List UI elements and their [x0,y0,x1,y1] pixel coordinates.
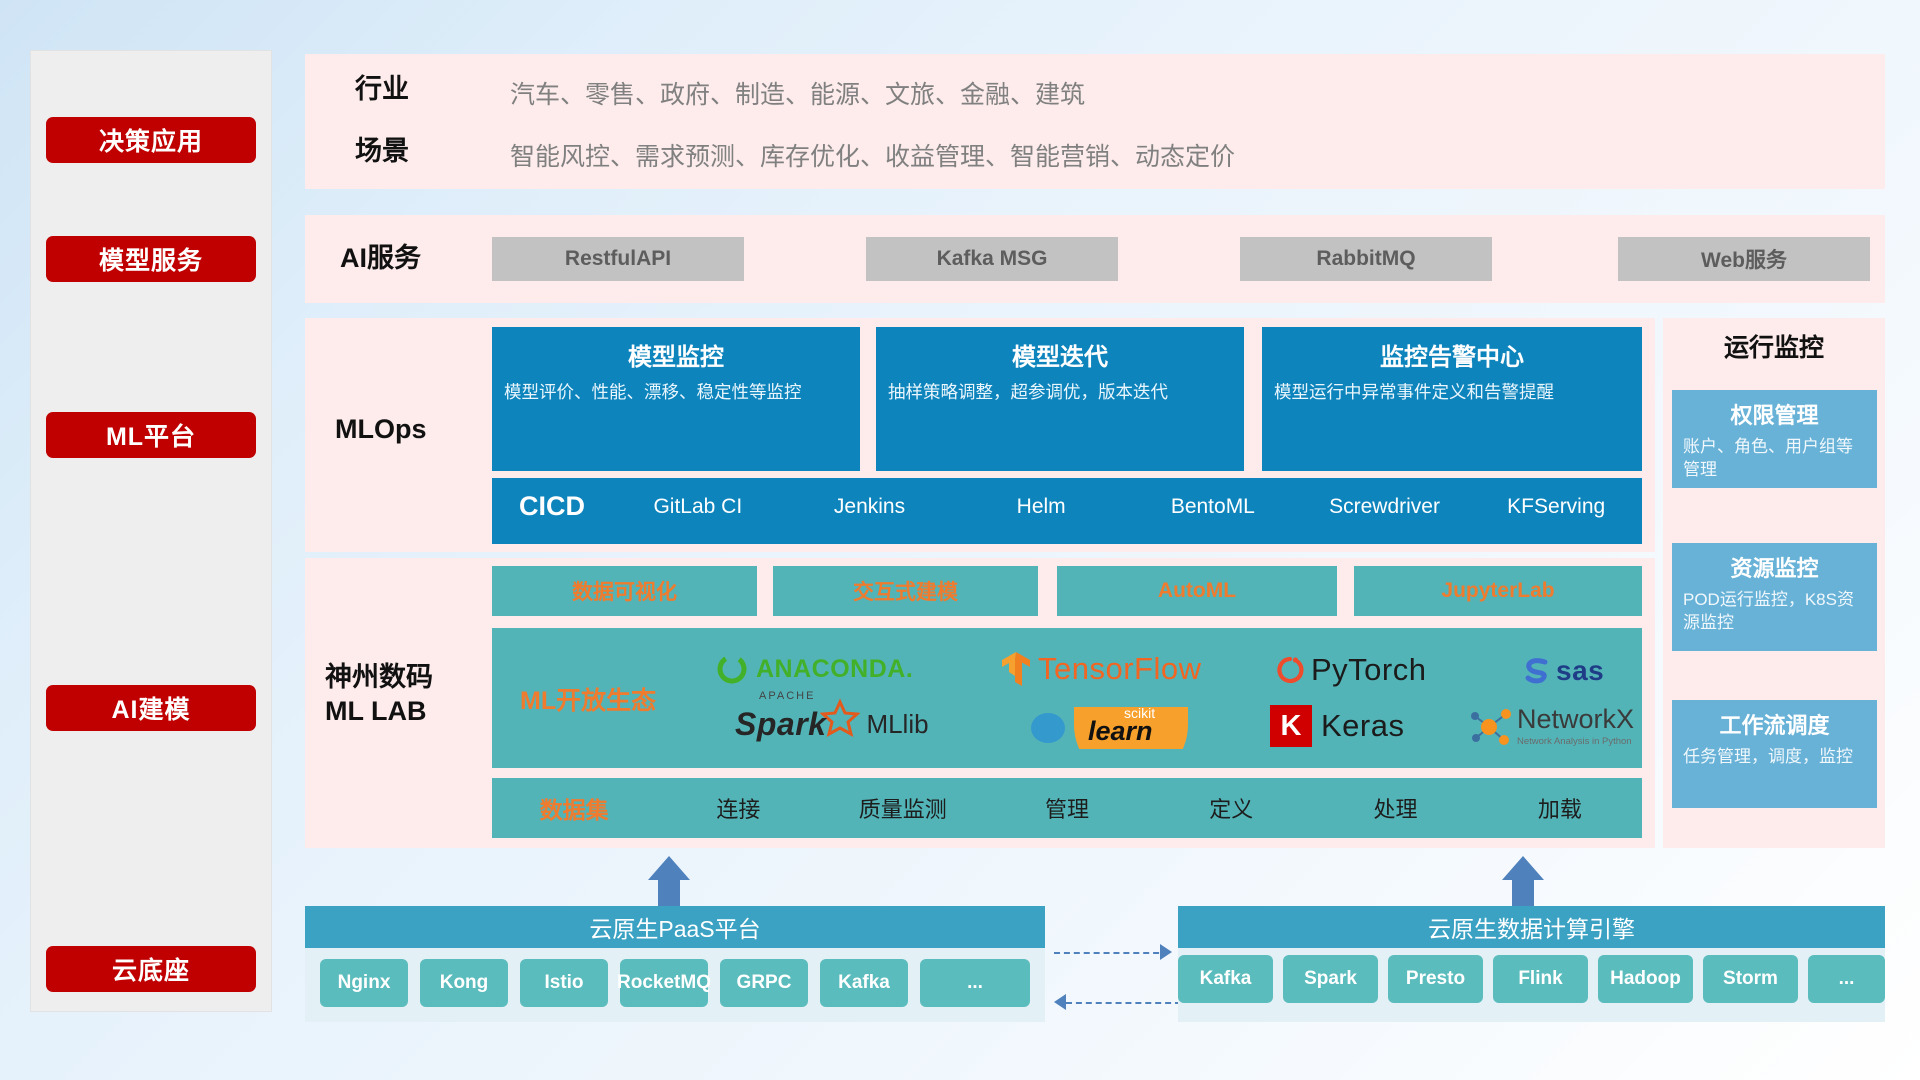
keras-logo: K Keras [1270,705,1404,747]
mllab-tab-jupyterlab[interactable]: JupyterLab [1354,566,1642,616]
pytorch-logo-text: PyTorch [1311,652,1426,688]
monitor-card-permission[interactable]: 权限管理 账户、角色、用户组等管理 [1672,390,1877,488]
mlops-label: MLOps [335,410,495,450]
rail-item-cloud-base[interactable]: 云底座 [46,946,256,992]
industry-label: 行业 [355,72,475,108]
dataset-label: 数据集 [492,791,656,825]
cicd-item-helm[interactable]: Helm [955,478,1127,518]
ml-ecosystem-label: ML开放生态 [520,680,720,718]
cloud-data-title: 云原生数据计算引擎 [1178,906,1885,948]
spark-logo-sub: APACHE [759,690,815,702]
cicd-item-screwdriver[interactable]: Screwdriver [1299,478,1471,518]
rail-item-ai-modeling[interactable]: AI建模 [46,685,256,731]
arrow-left-stem [658,876,680,906]
dataset-item-manage[interactable]: 管理 [985,792,1149,824]
networkx-logo: NetworkX Network Analysis in Python [1468,706,1634,747]
dataset-row: 数据集 连接 质量监测 管理 定义 处理 加载 [492,778,1642,838]
spark-mllib-text: MLlib [866,709,928,740]
mlops-card-title: 模型迭代 [888,337,1232,372]
dataset-item-define[interactable]: 定义 [1149,792,1313,824]
cloud-paas-chip-nginx[interactable]: Nginx [320,959,408,1007]
scikit-learn-logo: scikit learn [1030,702,1155,748]
industry-values: 汽车、零售、政府、制造、能源、文旅、金融、建筑 [510,75,1085,111]
spark-logo: APACHE Spark MLlib [735,706,929,743]
scenario-label: 场景 [355,134,475,170]
dash-arrow-left [1054,994,1066,1010]
cloud-data-chip-flink[interactable]: Flink [1493,955,1588,1003]
dataset-item-load[interactable]: 加载 [1478,792,1642,824]
dataset-item-process[interactable]: 处理 [1313,792,1477,824]
mlops-card-model-iteration[interactable]: 模型迭代 抽样策略调整，超参调优，版本迭代 [876,327,1244,471]
mllab-tab-interactive-modeling[interactable]: 交互式建模 [773,566,1038,616]
keras-logo-text: Keras [1321,708,1404,744]
networkx-logo-text: NetworkX [1517,706,1634,733]
mllab-label-line2: ML LAB [325,695,427,729]
ai-service-label: AI服务 [340,240,490,278]
cicd-item-kfserving[interactable]: KFServing [1470,478,1642,518]
cloud-paas-chip-rocketmq[interactable]: RocketMQ [620,959,708,1007]
monitor-title: 运行监控 [1663,328,1885,364]
cloud-data-chip-presto[interactable]: Presto [1388,955,1483,1003]
monitor-card-title: 资源监控 [1683,551,1866,583]
rail-item-model-service[interactable]: 模型服务 [46,236,256,282]
pytorch-logo: PyTorch [1275,652,1426,688]
dash-line-to-right [1054,952,1169,954]
cicd-item-gitlab-ci[interactable]: GitLab CI [612,478,784,518]
dataset-item-connect[interactable]: 连接 [656,792,820,824]
mllab-label: 神州数码 ML LAB [325,655,500,735]
dash-arrow-right [1160,944,1172,960]
cloud-paas-chip-kong[interactable]: Kong [420,959,508,1007]
monitor-card-desc: 任务管理，调度，监控 [1683,746,1866,769]
cicd-item-bentoml[interactable]: BentoML [1127,478,1299,518]
mlops-card-title: 模型监控 [504,337,848,372]
monitor-card-title: 工作流调度 [1683,708,1866,740]
sas-logo-text: sas [1556,655,1604,687]
monitor-card-title: 权限管理 [1683,398,1866,430]
service-chip-rabbitmq[interactable]: RabbitMQ [1240,237,1492,281]
mllab-tab-automl[interactable]: AutoML [1057,566,1337,616]
monitor-card-resource[interactable]: 资源监控 POD运行监控，K8S资源监控 [1672,543,1877,651]
mlops-card-desc: 模型运行中异常事件定义和告警提醒 [1274,381,1630,405]
mlops-card-desc: 抽样策略调整，超参调优，版本迭代 [888,381,1232,405]
mlops-card-alert-center[interactable]: 监控告警中心 模型运行中异常事件定义和告警提醒 [1262,327,1642,471]
layer-rail: 决策应用 模型服务 ML平台 AI建模 云底座 [30,50,272,1012]
mllab-label-line1: 神州数码 [325,661,433,695]
mllab-tab-data-visualization[interactable]: 数据可视化 [492,566,757,616]
cicd-label: CICD [492,478,612,522]
arrow-right-stem [1512,876,1534,906]
cloud-paas-chip-more[interactable]: ... [920,959,1030,1007]
arrow-left-head [648,856,690,880]
service-chip-restfulapi[interactable]: RestfulAPI [492,237,744,281]
tensorflow-logo: TensorFlow [1000,650,1202,688]
anaconda-logo: ANACONDA. [715,652,913,686]
monitor-card-desc: 账户、角色、用户组等管理 [1683,436,1866,482]
keras-logo-mark: K [1270,705,1312,747]
scenario-values: 智能风控、需求预测、库存优化、收益管理、智能营销、动态定价 [510,137,1235,173]
mlops-card-desc: 模型评价、性能、漂移、稳定性等监控 [504,381,848,405]
service-chip-web[interactable]: Web服务 [1618,237,1870,281]
sas-logo: sas [1520,655,1604,687]
rail-item-decision-app[interactable]: 决策应用 [46,117,256,163]
cloud-data-chip-kafka[interactable]: Kafka [1178,955,1273,1003]
dataset-item-quality[interactable]: 质量监测 [821,792,985,824]
monitor-card-workflow[interactable]: 工作流调度 任务管理，调度，监控 [1672,700,1877,808]
arrow-right-head [1502,856,1544,880]
spark-logo-text: Spark [735,706,826,742]
architecture-diagram: 决策应用 模型服务 ML平台 AI建模 云底座 行业 汽车、零售、政府、制造、能… [0,0,1920,1080]
scikit-learn-logo-text: learn [1088,716,1155,747]
cloud-paas-chip-istio[interactable]: Istio [520,959,608,1007]
cicd-row: CICD GitLab CI Jenkins Helm BentoML Scre… [492,478,1642,544]
cloud-paas-title: 云原生PaaS平台 [305,906,1045,948]
cicd-item-jenkins[interactable]: Jenkins [784,478,956,518]
cloud-data-chip-spark[interactable]: Spark [1283,955,1378,1003]
anaconda-logo-text: ANACONDA. [756,655,913,684]
cloud-data-chip-hadoop[interactable]: Hadoop [1598,955,1693,1003]
rail-item-ml-platform[interactable]: ML平台 [46,412,256,458]
mlops-card-model-monitoring[interactable]: 模型监控 模型评价、性能、漂移、稳定性等监控 [492,327,860,471]
mlops-card-title: 监控告警中心 [1274,337,1630,372]
tensorflow-logo-text: TensorFlow [1038,651,1202,687]
service-chip-kafka-msg[interactable]: Kafka MSG [866,237,1118,281]
cloud-paas-chip-grpc[interactable]: GRPC [720,959,808,1007]
cloud-paas-chip-kafka[interactable]: Kafka [820,959,908,1007]
cloud-data-chip-more[interactable]: ... [1808,955,1885,1003]
dash-line-to-left [1066,1002,1181,1004]
networkx-logo-sub: Network Analysis in Python [1517,736,1634,747]
monitor-card-desc: POD运行监控，K8S资源监控 [1683,589,1866,635]
cloud-data-chip-storm[interactable]: Storm [1703,955,1798,1003]
